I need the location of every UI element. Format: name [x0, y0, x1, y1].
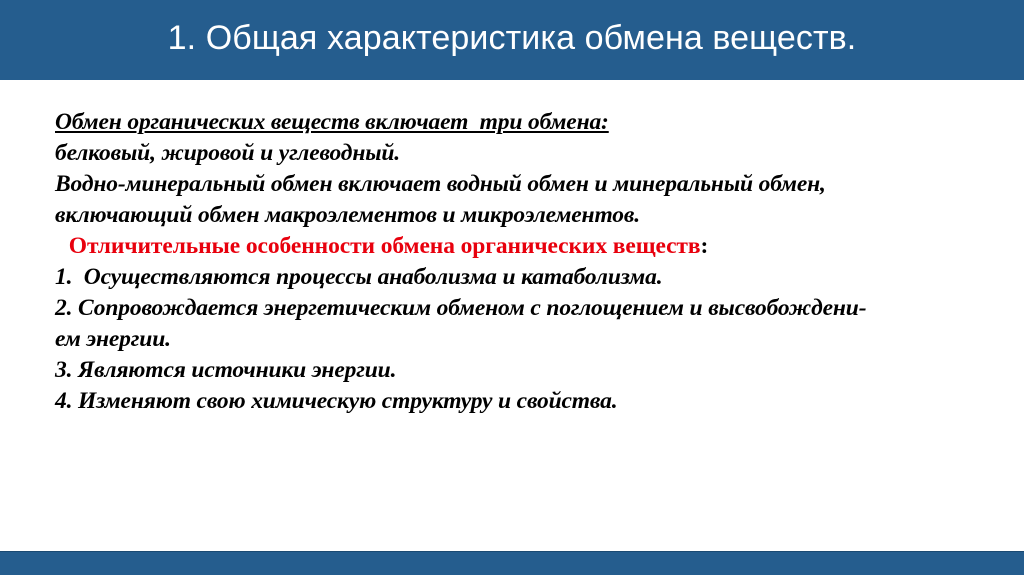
body-line-1: Обмен органических веществ включает три …	[55, 107, 995, 138]
body-line-3: Водно-минеральный обмен включает водный …	[55, 169, 995, 200]
body-list-item-2: 2. Сопровождается энергетическим обменом…	[55, 293, 995, 324]
body-list-item-4: 4. Изменяют свою химическую структуру и …	[55, 386, 995, 417]
body-line-2: белковый, жировой и углеводный.	[55, 138, 995, 169]
body-list-item-1: 1. Осуществляются процессы анаболизма и …	[55, 262, 995, 293]
slide-footer-band	[0, 551, 1024, 575]
highlight-text: Отличительные особенности обмена органич…	[63, 233, 700, 259]
body-line-5-highlight: Отличительные особенности обмена органич…	[55, 231, 995, 262]
slide: 1. Общая характеристика обмена веществ. …	[0, 0, 1024, 574]
page-title: 1. Общая характеристика обмена веществ.	[168, 20, 857, 59]
highlight-colon: :	[700, 233, 708, 259]
body-line-4: включающий обмен макроэлементов и микроэ…	[55, 200, 995, 231]
slide-body: Обмен органических веществ включает три …	[55, 107, 995, 417]
body-list-item-3: 3. Являются источники энергии.	[55, 355, 995, 386]
slide-header-band: 1. Общая характеристика обмена веществ.	[0, 0, 1024, 80]
body-list-item-2-continued: ем энергии.	[55, 324, 995, 355]
